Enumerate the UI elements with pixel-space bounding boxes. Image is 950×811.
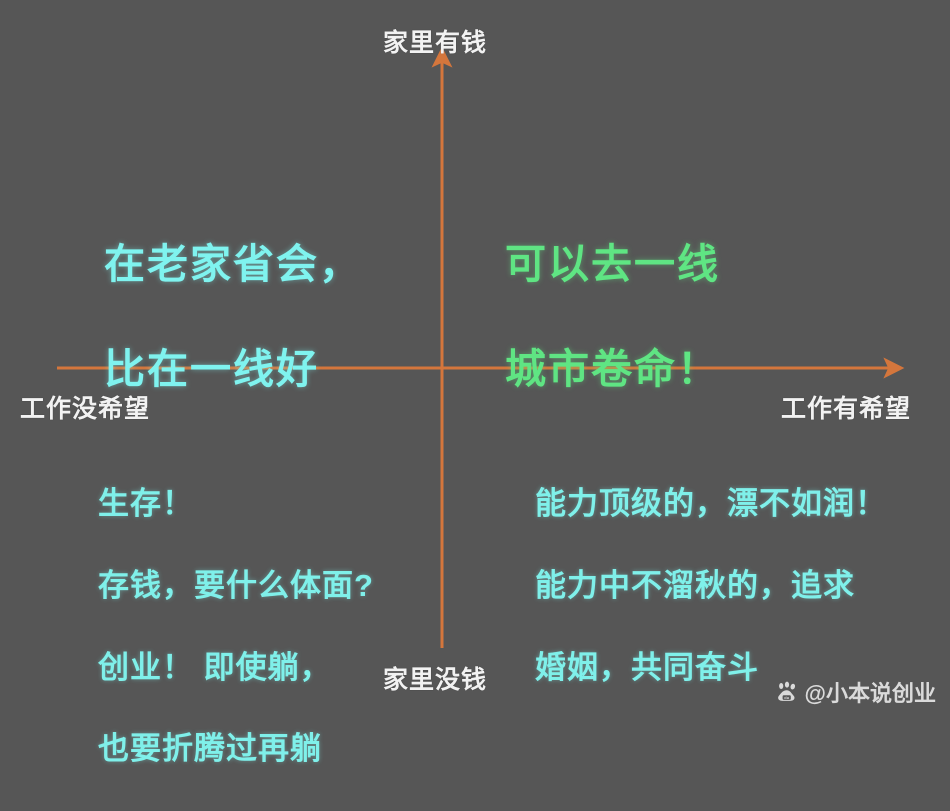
watermark-text: @小本说创业 bbox=[805, 676, 936, 708]
axis-label-bottom: 家里没钱 bbox=[383, 660, 487, 696]
axis-label-right: 工作有希望 bbox=[781, 389, 911, 425]
quadrant-bl-line-1: 生存！ bbox=[98, 484, 374, 525]
svg-text:du: du bbox=[784, 695, 789, 700]
quadrant-tr-line-1: 可以去一线 bbox=[505, 238, 720, 290]
quadrant-tr-line-2: 城市卷命！ bbox=[505, 343, 720, 395]
watermark: du @小本说创业 bbox=[775, 676, 936, 708]
quadrant-bl-line-2: 存钱，要什么体面? bbox=[98, 566, 374, 607]
quadrant-br-line-1: 能力顶级的，漂不如润！ bbox=[535, 484, 887, 525]
quadrant-text-bottom-left: 生存！ 存钱，要什么体面? 创业！ 即使躺， 也要折腾过再躺 bbox=[98, 443, 374, 811]
quadrant-diagram-canvas: 家里有钱 家里没钱 工作没希望 工作有希望 在老家省会， 比在一线好 可以去一线… bbox=[0, 0, 950, 720]
quadrant-tl-line-1: 在老家省会， bbox=[104, 238, 362, 290]
quadrant-bl-line-4: 也要折腾过再躺 bbox=[98, 729, 374, 770]
quadrant-text-top-right: 可以去一线 城市卷命！ bbox=[505, 186, 720, 448]
baidu-paw-icon: du bbox=[775, 680, 799, 704]
axis-label-top: 家里有钱 bbox=[383, 23, 487, 59]
quadrant-text-top-left: 在老家省会， 比在一线好 bbox=[104, 186, 362, 448]
quadrant-bl-line-3: 创业！ 即使躺， bbox=[98, 648, 374, 689]
quadrant-br-line-2: 能力中不溜秋的，追求 bbox=[535, 566, 887, 607]
quadrant-tl-line-2: 比在一线好 bbox=[104, 343, 362, 395]
